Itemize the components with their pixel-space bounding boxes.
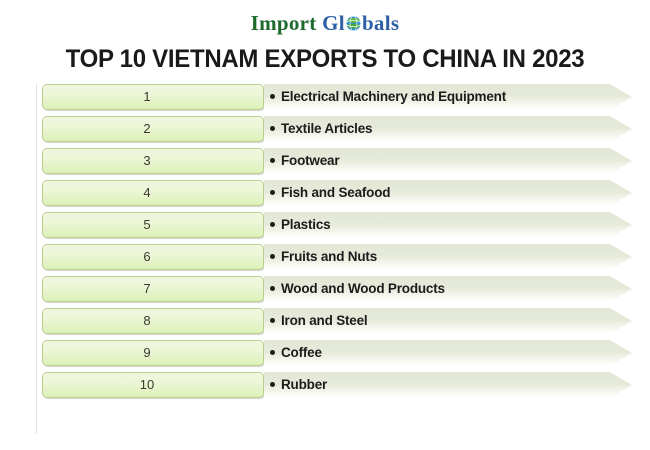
export-category-label: Iron and Steel [264,308,367,334]
bullet-icon [270,382,275,387]
bullet-icon [270,286,275,291]
brand-logo: Import Gl bals [0,10,650,36]
rank-number: 8 [36,308,258,334]
rank-number: 3 [36,148,258,174]
ranking-row: 1Electrical Machinery and Equipment [36,84,632,110]
bullet-icon [270,222,275,227]
bullet-icon [270,318,275,323]
bullet-icon [270,126,275,131]
ranking-row: 9Coffee [36,340,632,366]
bullet-icon [270,94,275,99]
rank-number: 4 [36,180,258,206]
ranking-row: 5Plastics [36,212,632,238]
ranking-row: 4Fish and Seafood [36,180,632,206]
rank-number: 6 [36,244,258,270]
rank-number: 10 [36,372,258,398]
export-category-text: Plastics [281,217,330,232]
brand-word-globals-suffix: bals [362,11,399,35]
export-category-text: Electrical Machinery and Equipment [281,89,506,104]
ranking-row: 3Footwear [36,148,632,174]
export-category-label: Coffee [264,340,322,366]
bullet-icon [270,158,275,163]
export-category-label: Electrical Machinery and Equipment [264,84,506,110]
ranking-row: 7Wood and Wood Products [36,276,632,302]
export-category-text: Iron and Steel [281,313,367,328]
bullet-icon [270,350,275,355]
ranking-row-list: 1Electrical Machinery and Equipment2Text… [36,84,632,398]
export-category-label: Footwear [264,148,339,174]
rank-number: 5 [36,212,258,238]
infographic-page: Import Gl bals TOP 10 VIETNAM EXPORTS TO… [0,0,650,450]
export-category-text: Fruits and Nuts [281,249,377,264]
globe-icon [345,12,362,29]
export-category-label: Rubber [264,372,327,398]
export-category-label: Textile Articles [264,116,372,142]
export-category-text: Wood and Wood Products [281,281,445,296]
export-category-label: Wood and Wood Products [264,276,445,302]
ranking-row: 8Iron and Steel [36,308,632,334]
export-category-label: Plastics [264,212,330,238]
rank-number: 9 [36,340,258,366]
export-category-text: Footwear [281,153,339,168]
export-category-label: Fish and Seafood [264,180,390,206]
ranking-row: 2Textile Articles [36,116,632,142]
export-category-text: Coffee [281,345,322,360]
rank-number: 1 [36,84,258,110]
brand-word-import: Import [251,11,317,35]
ranking-row: 6Fruits and Nuts [36,244,632,270]
export-category-text: Rubber [281,377,327,392]
ranking-row: 10Rubber [36,372,632,398]
ranking-chart: 1Electrical Machinery and Equipment2Text… [36,84,632,410]
export-category-text: Fish and Seafood [281,185,390,200]
export-category-text: Textile Articles [281,121,372,136]
brand-word-globals-prefix: Gl [322,11,345,35]
bullet-icon [270,190,275,195]
page-title: TOP 10 VIETNAM EXPORTS TO CHINA IN 2023 [13,44,637,74]
export-category-label: Fruits and Nuts [264,244,377,270]
rank-number: 2 [36,116,258,142]
bullet-icon [270,254,275,259]
rank-number: 7 [36,276,258,302]
